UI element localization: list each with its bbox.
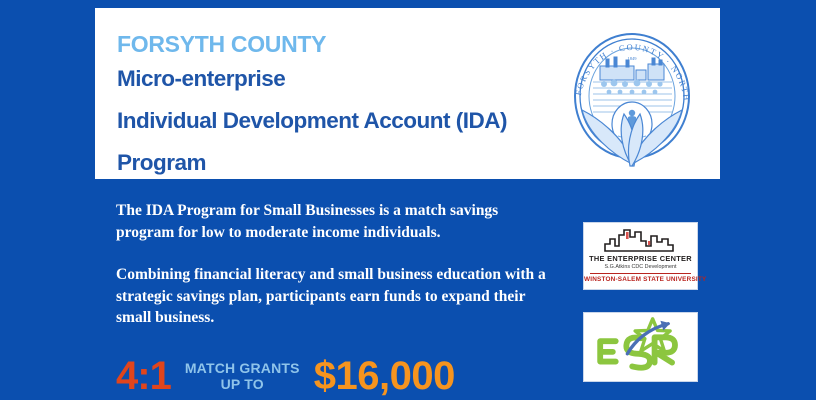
enterprise-center-name: THE ENTERPRISE CENTER bbox=[584, 254, 697, 263]
match-grant-label-line-1: MATCH GRANTS bbox=[185, 360, 300, 376]
page-title-line-1: Micro-enterprise bbox=[117, 58, 507, 100]
enterprise-center-divider bbox=[590, 273, 691, 274]
match-grant-label: MATCH GRANTS UP TO bbox=[185, 360, 300, 392]
page-title-line-2: Individual Development Account (IDA) bbox=[117, 100, 507, 142]
match-grant-summary: 4:1 MATCH GRANTS UP TO $16,000 bbox=[116, 352, 546, 400]
header-text-block: FORSYTH COUNTY Micro-enterprise Individu… bbox=[95, 8, 507, 184]
enterprise-center-logo: THE ENTERPRISE CENTER S.G.Atkins CDC Dev… bbox=[583, 222, 698, 290]
enterprise-center-affiliation: WINSTON-SALEM STATE UNIVERSITY bbox=[584, 276, 697, 284]
skyline-icon bbox=[602, 227, 680, 252]
match-grant-amount: $16,000 bbox=[314, 354, 455, 398]
match-grant-label-line-2: UP TO bbox=[185, 376, 300, 392]
header-card: FORSYTH COUNTY Micro-enterprise Individu… bbox=[95, 8, 720, 179]
page-eyebrow: FORSYTH COUNTY bbox=[117, 30, 507, 58]
body-copy: The IDA Program for Small Businesses is … bbox=[116, 200, 546, 329]
esr-star-arrow-icon bbox=[584, 313, 697, 381]
page-title-line-3: Program bbox=[117, 142, 507, 184]
body-paragraph-2: Combining financial literacy and small b… bbox=[116, 264, 546, 329]
match-ratio: 4:1 bbox=[116, 354, 171, 398]
esr-logo bbox=[583, 312, 698, 382]
body-paragraph-1: The IDA Program for Small Businesses is … bbox=[116, 200, 546, 243]
enterprise-center-subtitle: S.G.Atkins CDC Development bbox=[584, 263, 697, 271]
forsyth-county-seal-icon: FORSYTH · COUNTY · NORTH · CAROLINA 1849 bbox=[552, 14, 712, 179]
